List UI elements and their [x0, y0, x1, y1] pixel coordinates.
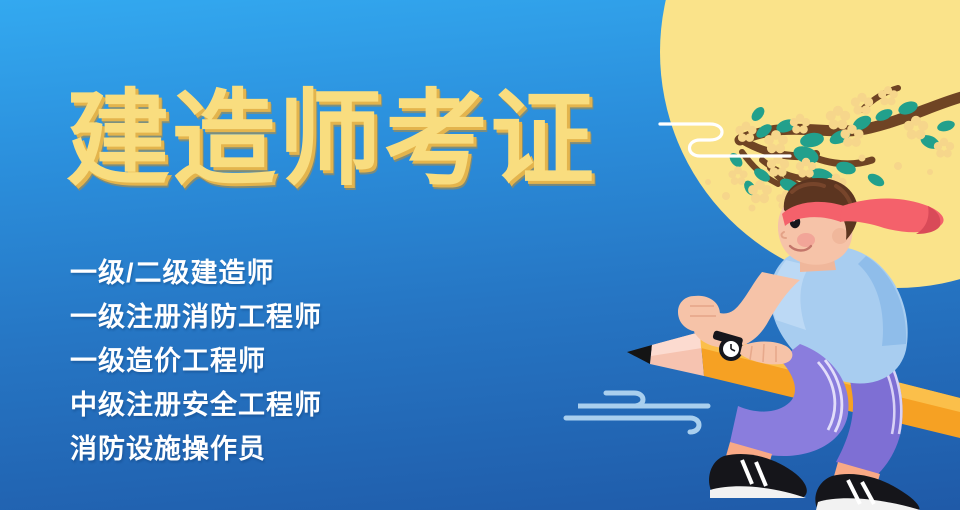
moon-circle [660, 0, 960, 288]
torso [770, 246, 908, 384]
blossom-branch [705, 86, 960, 218]
list-item: 一级/二级建造师 [70, 251, 322, 295]
list-item: 中级注册安全工程师 [70, 383, 322, 427]
list-item: 消防设施操作员 [70, 427, 322, 471]
far-leg [815, 336, 920, 510]
course-list: 一级/二级建造师 一级注册消防工程师 一级造价工程师 中级注册安全工程师 消防设… [70, 251, 322, 471]
head [778, 178, 944, 272]
near-leg [709, 344, 848, 498]
pencil [627, 332, 960, 438]
white-swirl-line [660, 124, 790, 156]
resting-hand [740, 342, 792, 365]
list-item: 一级注册消防工程师 [70, 295, 322, 339]
person-on-pencil [627, 178, 960, 510]
near-arm [678, 272, 800, 361]
list-item: 一级造价工程师 [70, 339, 322, 383]
promo-banner: 建造师考证 一级/二级建造师 一级注册消防工程师 一级造价工程师 中级注册安全工… [0, 0, 960, 510]
page-title: 建造师考证 [66, 88, 596, 192]
text-block: 建造师考证 一级/二级建造师 一级注册消防工程师 一级造价工程师 中级注册安全工… [0, 0, 660, 510]
